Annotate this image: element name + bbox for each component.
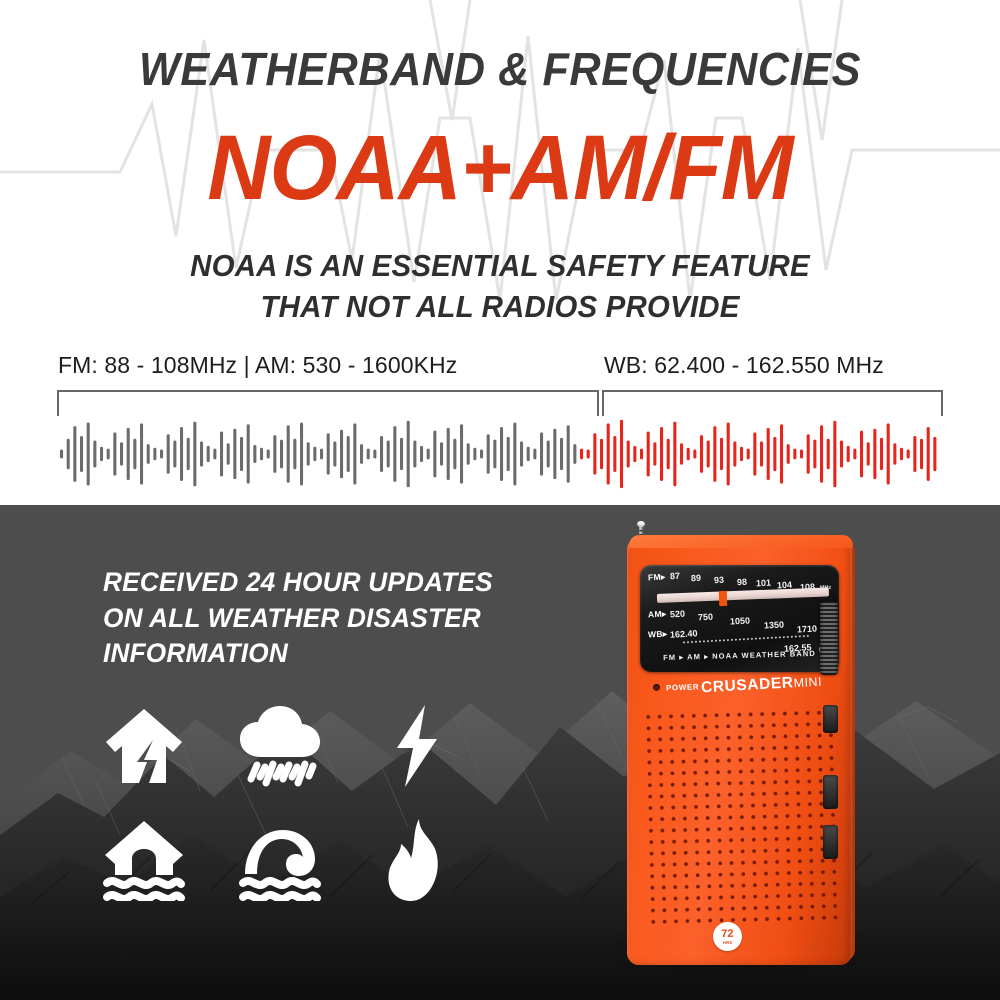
speaker-grille <box>642 707 839 927</box>
band-tag-wb: WB▸ <box>648 629 668 641</box>
page-title: NOAA+AM/FM <box>25 122 975 214</box>
tuning-dial-panel: FM▸ 87 89 93 98 101 104 108 MHz AM▸ 520 … <box>640 565 839 672</box>
band-tag-fm: FM▸ <box>648 572 666 584</box>
am-tick-1350: 1350 <box>764 619 785 630</box>
side-switch-power[interactable] <box>823 825 838 859</box>
house-storm-damage-icon <box>100 700 188 792</box>
tsunami-wave-icon <box>236 814 324 906</box>
brand-name-label: CRUSADERMINI <box>701 673 823 698</box>
fm-tick-93: 93 <box>714 575 725 586</box>
frequency-labels: FM: 88 - 108MHz | AM: 530 - 1600KHz WB: … <box>0 352 1000 382</box>
band-tag-am: AM▸ <box>648 609 667 621</box>
am-tick-750: 750 <box>698 612 714 623</box>
promo-description: RECEIVED 24 HOUR UPDATES ON ALL WEATHER … <box>103 565 530 672</box>
radio-product-image: FM▸ 87 89 93 98 101 104 108 MHz AM▸ 520 … <box>595 505 905 1000</box>
badge-number: 72 <box>721 928 734 939</box>
frequency-label-wb: WB: 62.400 - 162.550 MHz <box>604 352 884 379</box>
bracket-wb <box>602 390 943 416</box>
band-brackets <box>0 390 1000 418</box>
subtitle-line-2: THAT NOT ALL RADIOS PROVIDE <box>25 289 975 325</box>
frequency-label-fm-am: FM: 88 - 108MHz | AM: 530 - 1600KHz <box>58 352 457 379</box>
bracket-fm-am <box>57 390 599 416</box>
radio-front-body: FM▸ 87 89 93 98 101 104 108 MHz AM▸ 520 … <box>627 537 852 965</box>
badge-unit: HRS <box>723 939 733 944</box>
brand-primary: CRUSADER <box>701 674 794 696</box>
brand-suffix: MINI <box>793 675 822 691</box>
fire-flame-icon <box>372 814 460 906</box>
fm-tick-87: 87 <box>670 571 681 582</box>
tuning-slider-track[interactable] <box>657 587 829 603</box>
lightning-bolt-icon <box>372 700 460 792</box>
72-hours-badge: 72 HRS <box>713 922 743 952</box>
tuning-position-indicator[interactable] <box>719 591 728 606</box>
flooded-house-icon <box>100 814 188 906</box>
icon-row-top <box>100 700 460 792</box>
feature-section: RECEIVED 24 HOUR UPDATES ON ALL WEATHER … <box>0 505 1000 1000</box>
fm-tick-98: 98 <box>737 577 748 588</box>
power-label: POWER <box>666 682 700 692</box>
tuning-thumbwheel[interactable] <box>820 601 838 675</box>
am-tick-520: 520 <box>670 609 686 620</box>
frequency-waveform-chart <box>0 415 1000 493</box>
fm-tick-89: 89 <box>691 573 702 584</box>
infographic-page: WEATHERBAND & FREQUENCIES NOAA+AM/FM NOA… <box>0 0 1000 1000</box>
radio-top-edge <box>629 535 853 548</box>
side-switch-volume[interactable] <box>823 705 838 733</box>
icon-row-bottom <box>100 814 460 906</box>
disaster-icon-grid <box>100 700 460 928</box>
side-switch-band[interactable] <box>823 775 838 809</box>
subtitle-line-1: NOAA IS AN ESSENTIAL SAFETY FEATURE <box>25 248 975 284</box>
rain-cloud-icon <box>236 700 324 792</box>
header-section: WEATHERBAND & FREQUENCIES NOAA+AM/FM NOA… <box>0 0 1000 505</box>
fm-tick-101: 101 <box>756 578 772 589</box>
page-headline: WEATHERBAND & FREQUENCIES <box>30 42 970 96</box>
am-tick-1050: 1050 <box>730 615 751 626</box>
band-caption-text: FM ▸ AM ▸ NOAA WEATHER BAND <box>640 648 839 663</box>
power-led-indicator <box>653 684 660 691</box>
